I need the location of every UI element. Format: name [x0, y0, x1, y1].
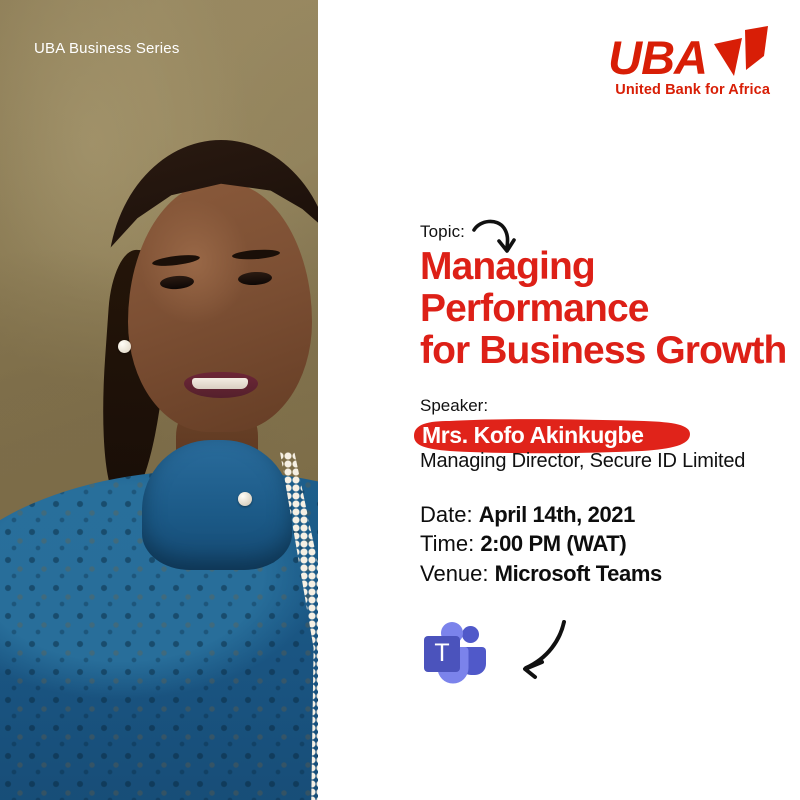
uba-logo: UBA United Bank for Africa	[608, 26, 770, 98]
speaker-label: Speaker:	[420, 396, 488, 416]
uba-business-series-poster: UBA Business Series UBA United Bank for …	[0, 0, 800, 800]
topic-title: Managing Performance for Business Growth	[420, 246, 800, 372]
series-label: UBA Business Series	[34, 40, 180, 57]
microsoft-teams-icon: T	[420, 618, 494, 692]
detail-label-date: Date:	[420, 502, 473, 527]
uba-logo-mark: UBA	[608, 26, 770, 80]
portrait-collar-button	[238, 492, 252, 506]
detail-label-time: Time:	[420, 531, 474, 556]
uba-flag-icon	[712, 26, 770, 78]
detail-row-date: Date: April 14th, 2021	[420, 500, 662, 529]
poster-content: Topic: Managing Performance for Business…	[418, 0, 800, 800]
teams-icon-letter: T	[434, 639, 449, 667]
topic-title-line-2: Performance	[420, 288, 800, 330]
event-details: Date: April 14th, 2021 Time: 2:00 PM (WA…	[420, 500, 662, 588]
topic-title-line-1: Managing	[420, 246, 800, 288]
uba-logo-subtitle: United Bank for Africa	[608, 82, 770, 98]
detail-row-time: Time: 2:00 PM (WAT)	[420, 529, 662, 558]
topic-label: Topic:	[420, 222, 465, 242]
detail-label-venue: Venue:	[420, 561, 489, 586]
detail-value-venue: Microsoft Teams	[495, 561, 662, 586]
detail-value-time: 2:00 PM (WAT)	[480, 531, 626, 556]
curved-arrow-down-left-icon	[508, 614, 588, 694]
portrait-earring	[118, 340, 131, 353]
speaker-role: Managing Director, Secure ID Limited	[420, 450, 745, 473]
uba-logo-wordmark: UBA	[608, 35, 707, 80]
speaker-name: Mrs. Kofo Akinkugbe	[422, 422, 644, 449]
platform-block: T	[420, 618, 494, 697]
portrait-teeth	[192, 378, 248, 389]
speaker-name-highlight: Mrs. Kofo Akinkugbe	[406, 416, 706, 452]
topic-title-line-3: for Business Growth	[420, 330, 800, 372]
detail-value-date: April 14th, 2021	[479, 502, 635, 527]
detail-row-venue: Venue: Microsoft Teams	[420, 559, 662, 588]
